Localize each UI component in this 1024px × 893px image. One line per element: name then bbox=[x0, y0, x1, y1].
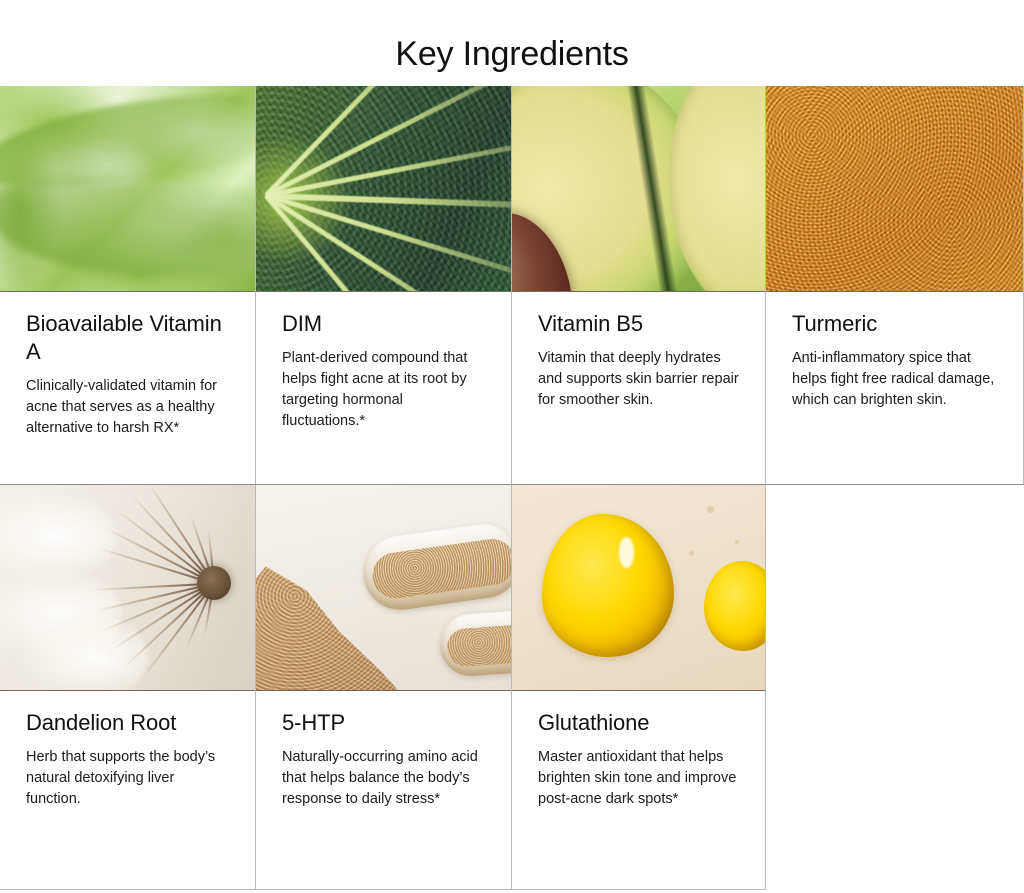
ingredient-text-glutathione: Glutathione Master antioxidant that help… bbox=[512, 691, 765, 889]
ingredient-text-vitamin-b5: Vitamin B5 Vitamin that deeply hydrates … bbox=[512, 292, 765, 484]
serum-micro-dot bbox=[735, 540, 739, 544]
avocado-halves-photo bbox=[512, 86, 765, 291]
capsule-fill bbox=[370, 536, 511, 601]
ingredient-description: Naturally-occurring amino acid that help… bbox=[282, 747, 489, 810]
ingredient-title: Vitamin B5 bbox=[538, 310, 738, 338]
yellow-serum-droplets-photo bbox=[512, 485, 765, 690]
ingredient-card-5-htp[interactable]: 5-HTP Naturally-occurring amino acid tha… bbox=[256, 485, 512, 890]
avocado-pit bbox=[512, 202, 589, 292]
savoy-cabbage-leaf-photo bbox=[256, 86, 511, 291]
serum-micro-dot bbox=[707, 506, 714, 513]
ingredient-description: Plant-derived compound that helps fight … bbox=[282, 348, 489, 432]
green-cabbage-swirl-photo bbox=[0, 86, 255, 291]
serum-droplet-small bbox=[704, 561, 765, 651]
grid-empty-cell bbox=[766, 485, 1024, 890]
ingredient-card-bioavailable-vitamin-a[interactable]: Bioavailable Vitamin A Clinically-valida… bbox=[0, 86, 256, 485]
ingredient-card-turmeric[interactable]: Turmeric Anti-inflammatory spice that he… bbox=[766, 86, 1024, 485]
ingredients-grid: Bioavailable Vitamin A Clinically-valida… bbox=[0, 86, 1024, 890]
ingredient-card-vitamin-b5[interactable]: Vitamin B5 Vitamin that deeply hydrates … bbox=[512, 86, 766, 485]
turmeric-powder-photo bbox=[766, 86, 1023, 291]
ingredient-image-bioavailable-vitamin-a bbox=[0, 86, 255, 292]
ingredient-text-dandelion-root: Dandelion Root Herb that supports the bo… bbox=[0, 691, 255, 889]
dandelion-spoke bbox=[126, 584, 215, 667]
dandelion-core bbox=[197, 566, 231, 600]
ingredient-title: Bioavailable Vitamin A bbox=[26, 310, 226, 366]
capsule bbox=[438, 608, 511, 678]
ingredient-card-dim[interactable]: DIM Plant-derived compound that helps fi… bbox=[256, 86, 512, 485]
ingredient-text-turmeric: Turmeric Anti-inflammatory spice that he… bbox=[766, 292, 1023, 484]
ingredient-card-dandelion-root[interactable]: Dandelion Root Herb that supports the bo… bbox=[0, 485, 256, 890]
serum-micro-dot bbox=[689, 551, 694, 556]
capsule bbox=[359, 519, 511, 614]
ingredient-image-glutathione bbox=[512, 485, 765, 691]
ingredient-description: Anti-inflammatory spice that helps fight… bbox=[792, 348, 1000, 411]
serum-droplet-large bbox=[542, 514, 674, 658]
ingredient-text-bioavailable-vitamin-a: Bioavailable Vitamin A Clinically-valida… bbox=[0, 292, 255, 484]
ingredient-image-turmeric bbox=[766, 86, 1023, 292]
ingredient-image-vitamin-b5 bbox=[512, 86, 765, 292]
ingredient-image-dim bbox=[256, 86, 511, 292]
ingredient-title: DIM bbox=[282, 310, 482, 338]
dandelion-fluff bbox=[15, 612, 148, 691]
ingredient-card-glutathione[interactable]: Glutathione Master antioxidant that help… bbox=[512, 485, 766, 890]
dandelion-seedhead-photo bbox=[0, 485, 255, 690]
ingredient-description: Master antioxidant that helps brighten s… bbox=[538, 747, 743, 810]
ingredient-text-5-htp: 5-HTP Naturally-occurring amino acid tha… bbox=[256, 691, 511, 889]
ingredient-title: Dandelion Root bbox=[26, 709, 226, 737]
powder-and-capsules-photo bbox=[256, 485, 511, 690]
ingredient-text-dim: DIM Plant-derived compound that helps fi… bbox=[256, 292, 511, 484]
ingredient-description: Herb that supports the body’s natural de… bbox=[26, 747, 233, 810]
ingredient-title: 5-HTP bbox=[282, 709, 482, 737]
key-ingredients-page: Key Ingredients Bioavailable Vitamin A C… bbox=[0, 0, 1024, 893]
ingredient-title: Glutathione bbox=[538, 709, 738, 737]
ingredient-image-5-htp bbox=[256, 485, 511, 691]
ingredient-description: Vitamin that deeply hydrates and support… bbox=[538, 348, 743, 411]
ingredient-description: Clinically-validated vitamin for acne th… bbox=[26, 376, 233, 439]
capsule-fill bbox=[446, 622, 511, 667]
ingredient-image-dandelion-root bbox=[0, 485, 255, 691]
ingredient-title: Turmeric bbox=[792, 310, 992, 338]
